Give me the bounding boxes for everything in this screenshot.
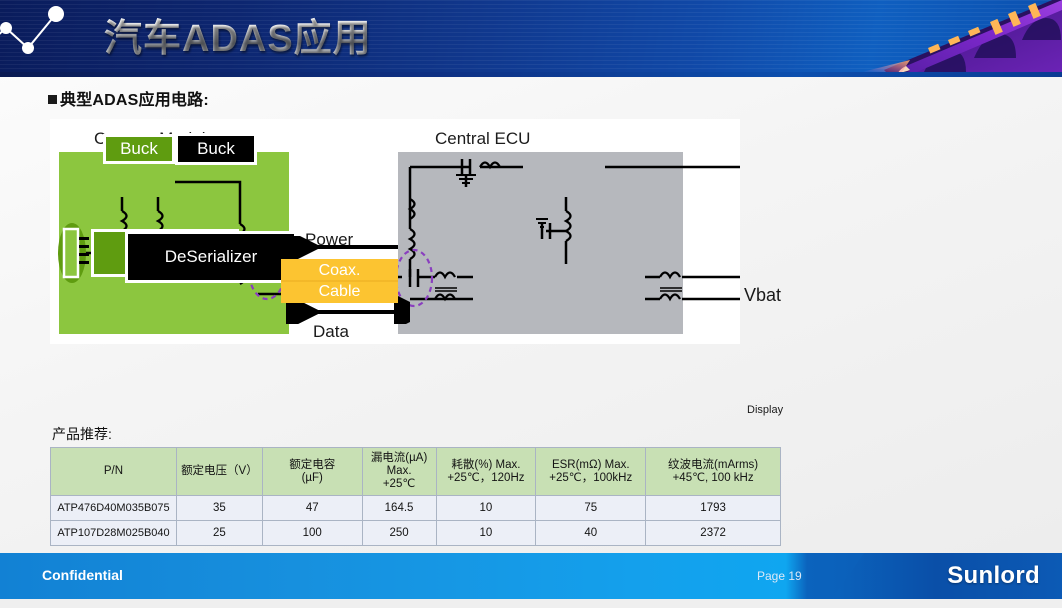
table-header-row: P/N 额定电压（V） 额定电容(µF) 漏电流(µA)Max.+25℃ 耗散(… xyxy=(51,448,781,496)
vbat-label: Vbat xyxy=(744,285,781,306)
cell-leakage: 164.5 xyxy=(362,496,436,521)
deserializer-box: DeSerializer xyxy=(125,231,297,283)
cell-capacitance: 47 xyxy=(262,496,362,521)
col-df-l1: 耗散(%) Max. xyxy=(439,459,534,472)
col-esr: ESR(mΩ) Max.+25℃，100kHz xyxy=(536,448,646,496)
cell-dissipation: 10 xyxy=(436,496,536,521)
table-row: ATP107D28M025B040 25 100 250 10 40 2372 xyxy=(51,521,781,546)
buck-camera-box: Buck xyxy=(103,134,175,164)
adas-circuit-diagram: Camera Module Central ECU xyxy=(50,119,740,344)
col-lc-l3: +25℃ xyxy=(365,478,434,491)
section-heading: 典型ADAS应用电路: xyxy=(48,86,209,110)
col-rc-l1: 额定电容 xyxy=(265,459,360,472)
cell-capacitance: 100 xyxy=(262,521,362,546)
cell-voltage: 35 xyxy=(176,496,262,521)
col-rip-l1: 纹波电流(mArms) xyxy=(648,459,778,472)
square-bullet-icon xyxy=(48,95,57,104)
col-lc-l1: 漏电流(µA) xyxy=(365,452,434,465)
cell-dissipation: 10 xyxy=(436,521,536,546)
col-rip-l2: +45℃, 100 kHz xyxy=(648,472,778,485)
slide-footer: Confidential Page 19 Sunlord xyxy=(0,553,1062,599)
page-number: Page 19 xyxy=(757,569,802,583)
cell-esr: 75 xyxy=(536,496,646,521)
cell-esr: 40 xyxy=(536,521,646,546)
line-chart-icon xyxy=(0,2,102,72)
col-ripple-current: 纹波电流(mArms)+45℃, 100 kHz xyxy=(646,448,781,496)
cell-voltage: 25 xyxy=(176,521,262,546)
col-rv-l1: 额定电压（V） xyxy=(179,465,260,478)
col-esr-l2: +25℃，100kHz xyxy=(538,472,643,485)
display-label: Display xyxy=(747,404,783,416)
col-df-l2: +25℃，120Hz xyxy=(439,472,534,485)
col-leakage-current: 漏电流(µA)Max.+25℃ xyxy=(362,448,436,496)
central-ecu-block xyxy=(398,152,683,334)
cell-ripple: 2372 xyxy=(646,521,781,546)
col-esr-l1: ESR(mΩ) Max. xyxy=(538,459,643,472)
cell-ripple: 1793 xyxy=(646,496,781,521)
coax-cable-box: Coax. Cable xyxy=(281,259,398,303)
col-rated-voltage: 额定电压（V） xyxy=(176,448,262,496)
brand-logo: Sunlord xyxy=(947,562,1040,590)
central-ecu-label: Central ECU xyxy=(435,129,530,149)
coax-line-1: Coax. xyxy=(281,260,398,281)
cell-pn: ATP107D28M025B040 xyxy=(51,521,177,546)
train-on-bridge-icon xyxy=(862,0,1062,72)
col-dissipation: 耗散(%) Max.+25℃，120Hz xyxy=(436,448,536,496)
header-underline xyxy=(0,72,1062,77)
col-rated-capacitance: 额定电容(µF) xyxy=(262,448,362,496)
page-title: 汽车ADAS应用 xyxy=(104,7,372,62)
cell-pn: ATP476D40M035B075 xyxy=(51,496,177,521)
col-rc-l2: (µF) xyxy=(265,472,360,485)
col-pn-l1: P/N xyxy=(53,465,174,478)
slide-canvas: 汽车ADAS应用 xyxy=(0,0,1062,608)
slide-header: 汽车ADAS应用 xyxy=(0,0,1062,72)
col-pn: P/N xyxy=(51,448,177,496)
section-heading-text: 典型ADAS应用电路: xyxy=(60,92,209,109)
table-caption: 产品推荐: xyxy=(52,424,112,444)
power-flow-label: Power xyxy=(305,230,353,250)
product-recommendation-table: P/N 额定电压（V） 额定电容(µF) 漏电流(µA)Max.+25℃ 耗散(… xyxy=(50,447,781,546)
table-row: ATP476D40M035B075 35 47 164.5 10 75 1793 xyxy=(51,496,781,521)
footer-bottom-strip xyxy=(0,599,1062,608)
cell-leakage: 250 xyxy=(362,521,436,546)
buck-ecu-box: Buck xyxy=(175,133,257,165)
data-flow-label: Data xyxy=(313,322,349,342)
col-lc-l2: Max. xyxy=(365,465,434,478)
confidential-label: Confidential xyxy=(42,567,123,583)
coax-line-2: Cable xyxy=(281,281,398,302)
